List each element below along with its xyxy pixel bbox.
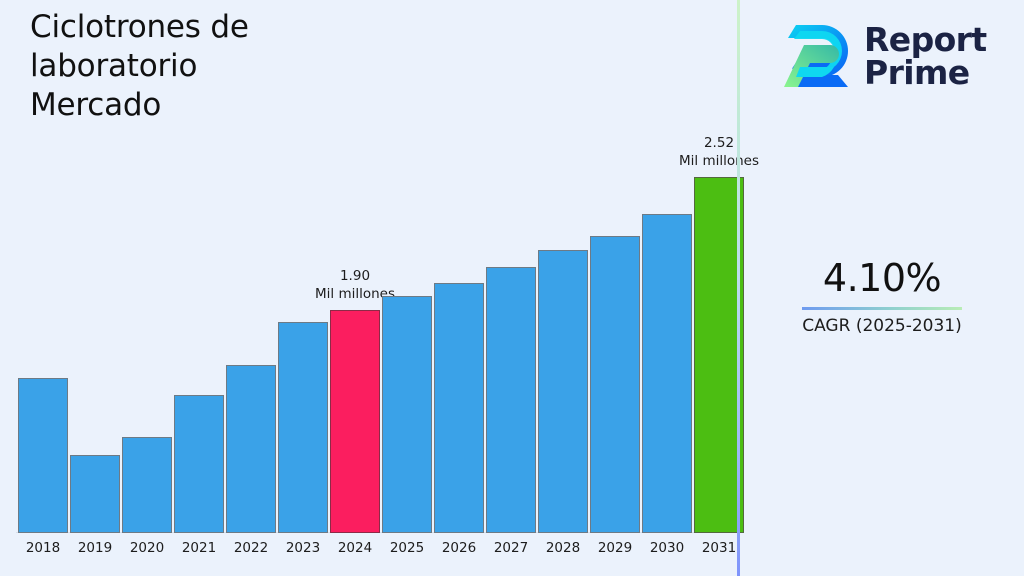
x-tick-label-2020: 2020 <box>117 540 177 556</box>
cagr-value: 4.10% <box>740 255 1024 301</box>
report-prime-logo: Report Prime <box>774 12 1006 100</box>
bar-2026[interactable] <box>434 283 484 533</box>
report-prime-r-mark-icon <box>774 19 852 93</box>
bar-2022[interactable] <box>226 365 276 533</box>
x-tick-label-2021: 2021 <box>169 540 229 556</box>
x-tick-label-2030: 2030 <box>637 540 697 556</box>
bar-2021[interactable] <box>174 395 224 533</box>
x-tick-label-2022: 2022 <box>221 540 281 556</box>
bar-2024[interactable] <box>330 310 380 533</box>
bar-2030[interactable] <box>642 214 692 533</box>
bar-2020[interactable] <box>122 437 172 533</box>
chart-page: Ciclotrones de laboratorio Mercado 20182… <box>0 0 1024 576</box>
cagr-caption: CAGR (2025-2031) <box>740 315 1024 337</box>
x-tick-label-2026: 2026 <box>429 540 489 556</box>
chart-panel: Ciclotrones de laboratorio Mercado 20182… <box>0 0 738 576</box>
x-tick-label-2019: 2019 <box>65 540 125 556</box>
bar-2027[interactable] <box>486 267 536 533</box>
logo-wordmark: Report Prime <box>864 23 987 89</box>
brand-panel: Report Prime 4.10% CAGR (2025-2031) <box>740 0 1024 576</box>
x-tick-label-2027: 2027 <box>481 540 541 556</box>
cagr-divider-rule <box>802 307 962 310</box>
x-tick-label-2025: 2025 <box>377 540 437 556</box>
bar-2029[interactable] <box>590 236 640 533</box>
bar-2025[interactable] <box>382 296 432 533</box>
cagr-block: 4.10% CAGR (2025-2031) <box>740 255 1024 337</box>
bar-2018[interactable] <box>18 378 68 533</box>
bar-2028[interactable] <box>538 250 588 533</box>
x-tick-label-2023: 2023 <box>273 540 333 556</box>
x-tick-label-2028: 2028 <box>533 540 593 556</box>
x-tick-label-2018: 2018 <box>13 540 73 556</box>
bar-2023[interactable] <box>278 322 328 533</box>
x-tick-label-2024: 2024 <box>325 540 385 556</box>
x-tick-label-2029: 2029 <box>585 540 645 556</box>
bar-2019[interactable] <box>70 455 120 533</box>
